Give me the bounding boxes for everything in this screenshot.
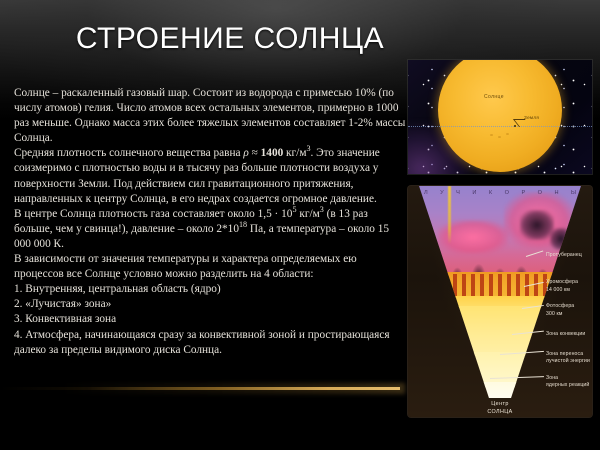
corona-rays-title: Л У Ч И К О Р О Н Ы xyxy=(424,190,576,196)
paragraph-core: В центре Солнца плотность газа составляе… xyxy=(14,207,406,252)
center-line-2: СОЛНЦА xyxy=(408,408,592,416)
list-item: 1. Внутренняя, центральная область (ядро… xyxy=(14,282,406,297)
center-of-sun-label: Центр СОЛНЦА xyxy=(408,400,592,416)
sun-earth-comparison-image: Солнце Земля xyxy=(408,60,592,174)
presentation-slide: СТРОЕНИЕ СОЛНЦА Солнце – раскаленный газ… xyxy=(0,0,600,450)
corona-letter: И xyxy=(472,190,476,196)
paragraph-regions: В зависимости от значения температуры и … xyxy=(14,252,406,282)
paragraph-density: Средняя плотность солнечного вещества ра… xyxy=(14,146,406,206)
corona-letter: О xyxy=(538,190,542,196)
label-prominence: Протуберанец xyxy=(546,252,582,259)
sun-structure-diagram: Л У Ч И К О Р О Н Ы Протуберанец Хромосф… xyxy=(408,186,592,417)
label-chromosphere: Хромосфера xyxy=(546,279,578,286)
label-photosphere-depth: 300 км xyxy=(546,311,563,318)
corona-letter: К xyxy=(489,190,492,196)
corona-letter: Н xyxy=(554,190,558,196)
label-radiative-zone-2: лучистой энергии xyxy=(546,358,590,365)
list-item: 3. Конвективная зона xyxy=(14,312,406,327)
earth-label: Земля xyxy=(524,115,539,120)
corona-letter: Р xyxy=(521,190,525,196)
label-chromosphere-depth: 14 000 км xyxy=(546,287,570,294)
list-item: 2. «Лучистая» зона» xyxy=(14,297,406,312)
list-item: 4. Атмосфера, начинающаяся сразу за конв… xyxy=(14,328,406,358)
corona-letter: Ч xyxy=(456,190,460,196)
label-convection-zone: Зона конвекции xyxy=(546,331,585,338)
label-photosphere: Фотосфера xyxy=(546,303,574,310)
slide-body-text: Солнце – раскаленный газовый шар. Состои… xyxy=(14,86,406,358)
sun-label: Солнце xyxy=(484,94,504,100)
paragraph-intro: Солнце – раскаленный газовый шар. Состои… xyxy=(14,86,406,146)
corona-letter: О xyxy=(505,190,509,196)
label-core-zone-2: ядерных реакций xyxy=(546,382,589,389)
equator-dotted-line xyxy=(408,126,592,127)
prominence-dark-core xyxy=(520,210,554,240)
slide-title: СТРОЕНИЕ СОЛНЦА xyxy=(20,20,440,58)
accent-line xyxy=(0,387,400,390)
corona-letter: У xyxy=(440,190,444,196)
center-line-1: Центр xyxy=(408,400,592,408)
corona-letter: Ы xyxy=(571,190,576,196)
corona-letter: Л xyxy=(424,190,428,196)
